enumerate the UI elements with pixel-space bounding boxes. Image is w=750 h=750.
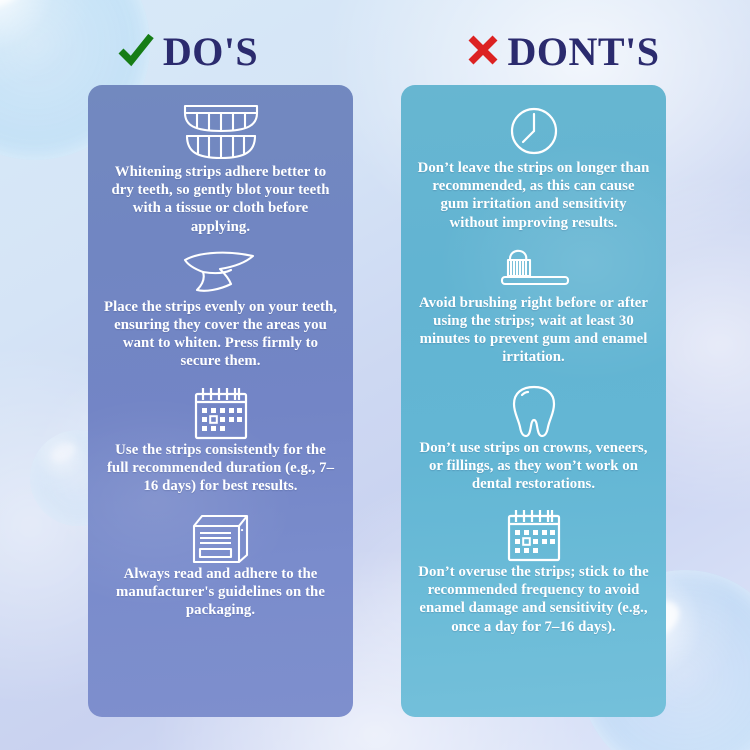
donts-item-3-text: Don’t use strips on crowns, veneers, or … xyxy=(415,439,652,494)
dos-item-2: Place the strips evenly on your teeth, e… xyxy=(102,250,339,371)
donts-panel: Don’t leave the strips on longer than re… xyxy=(401,85,666,717)
donts-item-1: Don’t leave the strips on longer than re… xyxy=(415,103,652,232)
panels-container: Whitening strips adhere better to dry te… xyxy=(88,85,666,717)
dos-item-2-text: Place the strips evenly on your teeth, e… xyxy=(102,298,339,371)
donts-header: DONT'S xyxy=(375,24,750,80)
dentures-icon xyxy=(178,101,264,163)
donts-item-4: Don’t overuse the strips; stick to the r… xyxy=(415,507,652,636)
calendar-icon xyxy=(189,385,253,441)
donts-item-2-text: Avoid brushing right before or after usi… xyxy=(415,294,652,367)
dos-item-1-text: Whitening strips adhere better to dry te… xyxy=(102,163,339,236)
donts-header-title: DONT'S xyxy=(508,32,660,72)
dos-item-4: Always read and adhere to the manufactur… xyxy=(102,511,339,620)
donts-item-4-text: Don’t overuse the strips; stick to the r… xyxy=(415,563,652,636)
tooth-icon xyxy=(509,383,559,439)
dos-header: DO'S xyxy=(0,24,375,80)
toothbrush-icon xyxy=(488,248,580,294)
whitening-strip-icon xyxy=(179,250,263,298)
dos-header-title: DO'S xyxy=(163,32,258,72)
dos-item-3: Use the strips consistently for the full… xyxy=(102,385,339,496)
dos-item-4-text: Always read and adhere to the manufactur… xyxy=(102,565,339,620)
dos-item-1: Whitening strips adhere better to dry te… xyxy=(102,101,339,236)
headers-row: DO'S DONT'S xyxy=(0,24,750,80)
calendar-icon xyxy=(502,507,566,563)
donts-item-1-text: Don’t leave the strips on longer than re… xyxy=(415,159,652,232)
donts-item-2: Avoid brushing right before or after usi… xyxy=(415,248,652,367)
product-box-icon xyxy=(189,511,253,565)
x-mark-icon xyxy=(466,33,500,72)
clock-icon xyxy=(506,103,562,159)
donts-item-3: Don’t use strips on crowns, veneers, or … xyxy=(415,383,652,494)
dos-panel: Whitening strips adhere better to dry te… xyxy=(88,85,353,717)
dos-item-3-text: Use the strips consistently for the full… xyxy=(102,441,339,496)
check-mark-icon xyxy=(117,31,155,74)
